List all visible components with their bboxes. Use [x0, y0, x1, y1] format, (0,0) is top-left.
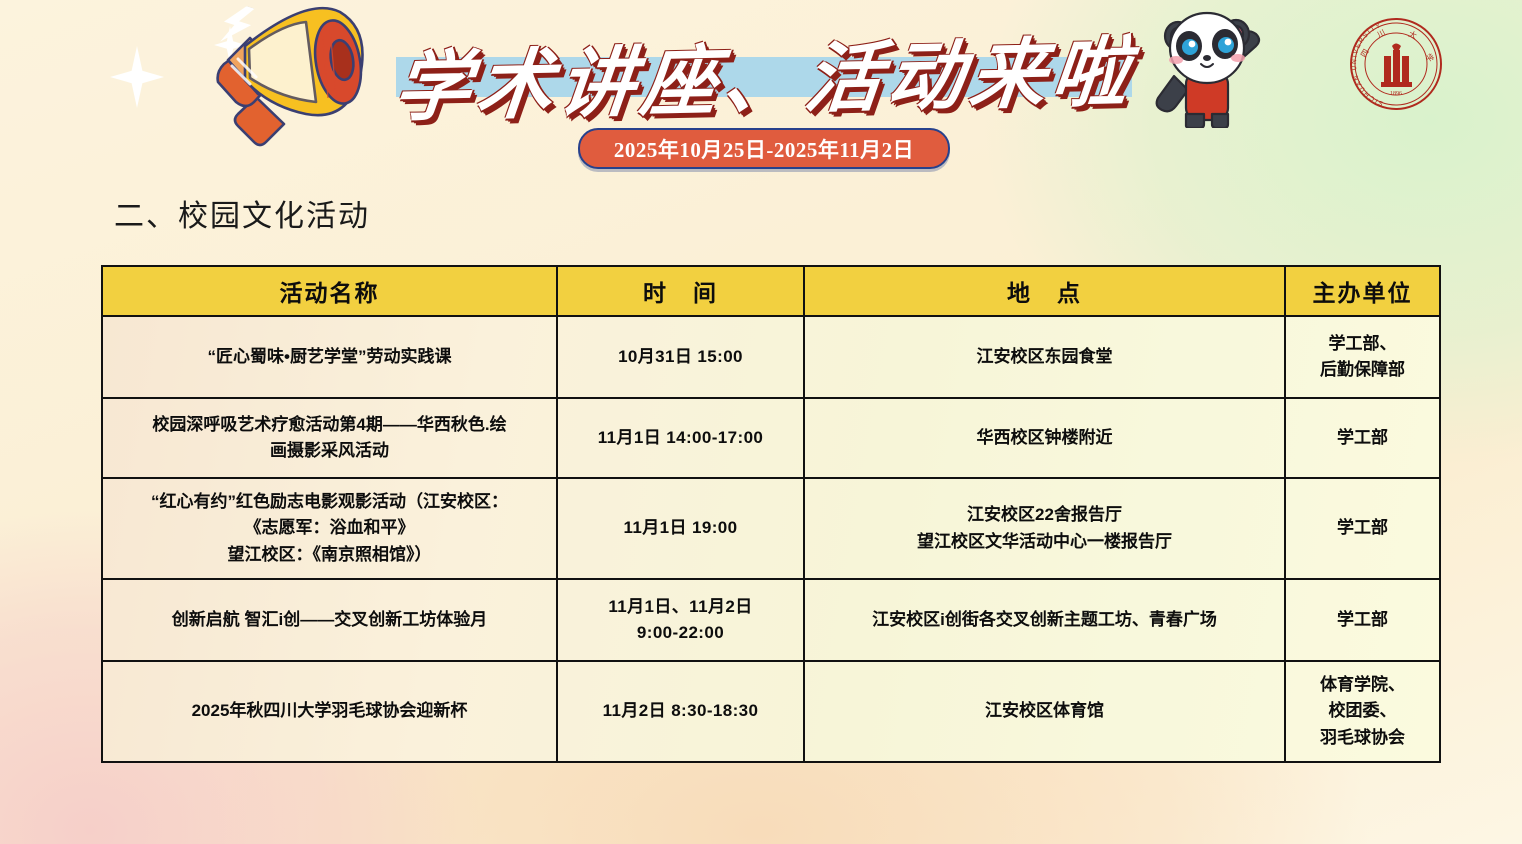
table-row: “红心有约”红色励志电影观影活动（江安校区： 《志愿军：浴血和平》 望江校区：《…	[102, 478, 1440, 579]
cell-organizer: 学工部、 后勤保障部	[1285, 316, 1440, 398]
cell-place: 江安校区体育馆	[804, 661, 1285, 762]
cell-activity-name: “匠心蜀味•厨艺学堂”劳动实践课	[102, 316, 557, 398]
sichuan-university-logo: 1896 SICHUAN UNIVERSITY 四 川 大 学	[1348, 16, 1444, 112]
cell-time: 11月1日 19:00	[557, 478, 804, 579]
svg-text:大: 大	[1407, 29, 1418, 41]
column-header-place: 地 点	[804, 266, 1285, 316]
cell-organizer: 体育学院、 校团委、 羽毛球协会	[1285, 661, 1440, 762]
cell-time: 11月1日、11月2日 9:00-22:00	[557, 579, 804, 661]
cell-activity-name: 校园深呼吸艺术疗愈活动第4期——华西秋色.绘 画摄影采风活动	[102, 398, 557, 478]
cell-organizer: 学工部	[1285, 478, 1440, 579]
column-header-activity-name: 活动名称	[102, 266, 557, 316]
table-row: 2025年秋四川大学羽毛球协会迎新杯 11月2日 8:30-18:30 江安校区…	[102, 661, 1440, 762]
table-header-row: 活动名称 时 间 地 点 主办单位	[102, 266, 1440, 316]
cell-organizer: 学工部	[1285, 398, 1440, 478]
cell-place: 江安校区22舍报告厅 望江校区文华活动中心一楼报告厅	[804, 478, 1285, 579]
cell-organizer: 学工部	[1285, 579, 1440, 661]
cell-activity-name: 创新启航 智汇i创——交叉创新工坊体验月	[102, 579, 557, 661]
schedule-table: 活动名称 时 间 地 点 主办单位 “匠心蜀味•厨艺学堂”劳动实践课 10月31…	[101, 265, 1441, 763]
cell-activity-name: 2025年秋四川大学羽毛球协会迎新杯	[102, 661, 557, 762]
table-row: 校园深呼吸艺术疗愈活动第4期——华西秋色.绘 画摄影采风活动 11月1日 14:…	[102, 398, 1440, 478]
logo-year: 1896	[1390, 91, 1402, 97]
section-heading: 二、校园文化活动	[114, 191, 370, 235]
cell-place: 江安校区i创街各交叉创新主题工坊、青春广场	[804, 579, 1285, 661]
panda-mascot-icon	[1152, 2, 1262, 128]
cell-time: 11月2日 8:30-18:30	[557, 661, 804, 762]
cell-activity-name: “红心有约”红色励志电影观影活动（江安校区： 《志愿军：浴血和平》 望江校区：《…	[102, 478, 557, 579]
table-row: 创新启航 智汇i创——交叉创新工坊体验月 11月1日、11月2日 9:00-22…	[102, 579, 1440, 661]
date-range-badge: 2025年10月25日-2025年11月2日	[578, 128, 950, 169]
cell-place: 华西校区钟楼附近	[804, 398, 1285, 478]
schedule-table-container: 活动名称 时 间 地 点 主办单位 “匠心蜀味•厨艺学堂”劳动实践课 10月31…	[101, 265, 1439, 763]
poster-header: 学术讲座、活动来啦 2025年10月25日-2025年11月2日	[0, 0, 1522, 180]
cell-time: 10月31日 15:00	[557, 316, 804, 398]
column-header-organizer: 主办单位	[1285, 266, 1440, 316]
cell-place: 江安校区东园食堂	[804, 316, 1285, 398]
svg-text:川: 川	[1376, 28, 1387, 40]
sparkle-icon	[110, 46, 164, 108]
page-title: 学术讲座、活动来啦	[394, 12, 1136, 132]
column-header-time: 时 间	[557, 266, 804, 316]
cell-time: 11月1日 14:00-17:00	[557, 398, 804, 478]
poster-canvas: 学术讲座、活动来啦 2025年10月25日-2025年11月2日	[0, 0, 1522, 844]
table-row: “匠心蜀味•厨艺学堂”劳动实践课 10月31日 15:00 江安校区东园食堂 学…	[102, 316, 1440, 398]
